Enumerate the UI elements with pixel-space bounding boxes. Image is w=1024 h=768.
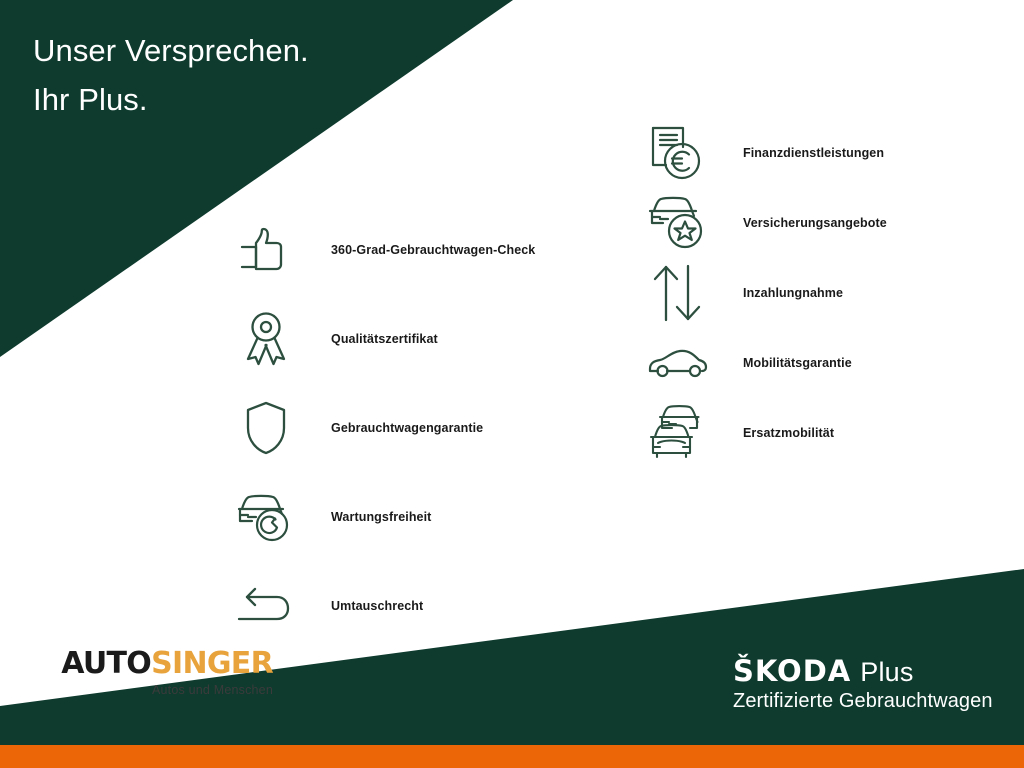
car-star-icon (645, 190, 711, 256)
two-cars-icon (645, 400, 711, 466)
feature-label: Gebrauchtwagengarantie (331, 421, 483, 435)
background-orange-bar (0, 745, 1024, 768)
skoda-plus-text: Plus (860, 659, 913, 686)
feature-item-financial-services: Finanzdienstleistungen (645, 118, 1015, 188)
feature-label: Finanzdienstleistungen (743, 146, 884, 160)
feature-list-left: 360-Grad-Gebrauchtwagen-Check Qualitätsz… (233, 205, 593, 650)
feature-label: Inzahlungnahme (743, 286, 843, 300)
page-title-line-1: Unser Versprechen. (33, 26, 309, 75)
feature-label: Umtauschrecht (331, 599, 423, 613)
autosinger-wordmark: AUTOSINGER (47, 648, 273, 680)
feature-label: Mobilitätsgarantie (743, 356, 852, 370)
up-down-arrows-icon (645, 260, 711, 326)
thumbs-up-icon (233, 217, 299, 283)
return-arrow-icon (233, 573, 299, 639)
autosinger-word-singer: SINGER (151, 646, 273, 681)
page-title-line-2: Ihr Plus. (33, 75, 309, 124)
document-euro-icon (645, 120, 711, 186)
autosinger-logo: AUTOSINGER Autos und Menschen (47, 648, 273, 697)
feature-item-exchange-right: Umtauschrecht (233, 561, 593, 650)
autosinger-tagline: Autos und Menschen (47, 683, 273, 697)
feature-label: Qualitätszertifikat (331, 332, 438, 346)
feature-item-trade-in: Inzahlungnahme (645, 258, 1015, 328)
promo-banner: Unser Versprechen. Ihr Plus. 360-Grad-Ge… (0, 0, 1024, 768)
feature-item-maintenance-free: Wartungsfreiheit (233, 472, 593, 561)
quality-rosette-icon (233, 306, 299, 372)
feature-label: Versicherungsangebote (743, 216, 887, 230)
feature-label: Wartungsfreiheit (331, 510, 431, 524)
skoda-brand-text: ŠKODA (733, 657, 851, 686)
skoda-plus-wordmark: ŠKODA Plus (733, 657, 993, 686)
feature-item-replacement-mobility: Ersatzmobilität (645, 398, 1015, 468)
shield-icon (233, 395, 299, 461)
skoda-plus-subtitle: Zertifizierte Gebrauchtwagen (733, 690, 993, 713)
feature-item-mobility-guarantee: Mobilitätsgarantie (645, 328, 1015, 398)
side-car-icon (645, 330, 711, 396)
feature-item-360-check: 360-Grad-Gebrauchtwagen-Check (233, 205, 593, 294)
feature-item-warranty: Gebrauchtwagengarantie (233, 383, 593, 472)
feature-item-insurance-offers: Versicherungsangebote (645, 188, 1015, 258)
page-title: Unser Versprechen. Ihr Plus. (33, 26, 309, 124)
car-wrench-icon (233, 484, 299, 550)
skoda-plus-logo: ŠKODA Plus Zertifizierte Gebrauchtwagen (733, 657, 993, 713)
feature-label: 360-Grad-Gebrauchtwagen-Check (331, 243, 535, 257)
feature-item-quality-certificate: Qualitätszertifikat (233, 294, 593, 383)
autosinger-word-auto: AUTO (61, 646, 151, 681)
feature-label: Ersatzmobilität (743, 426, 834, 440)
feature-list-right: Finanzdienstleistungen Versicherungsange… (645, 118, 1015, 468)
